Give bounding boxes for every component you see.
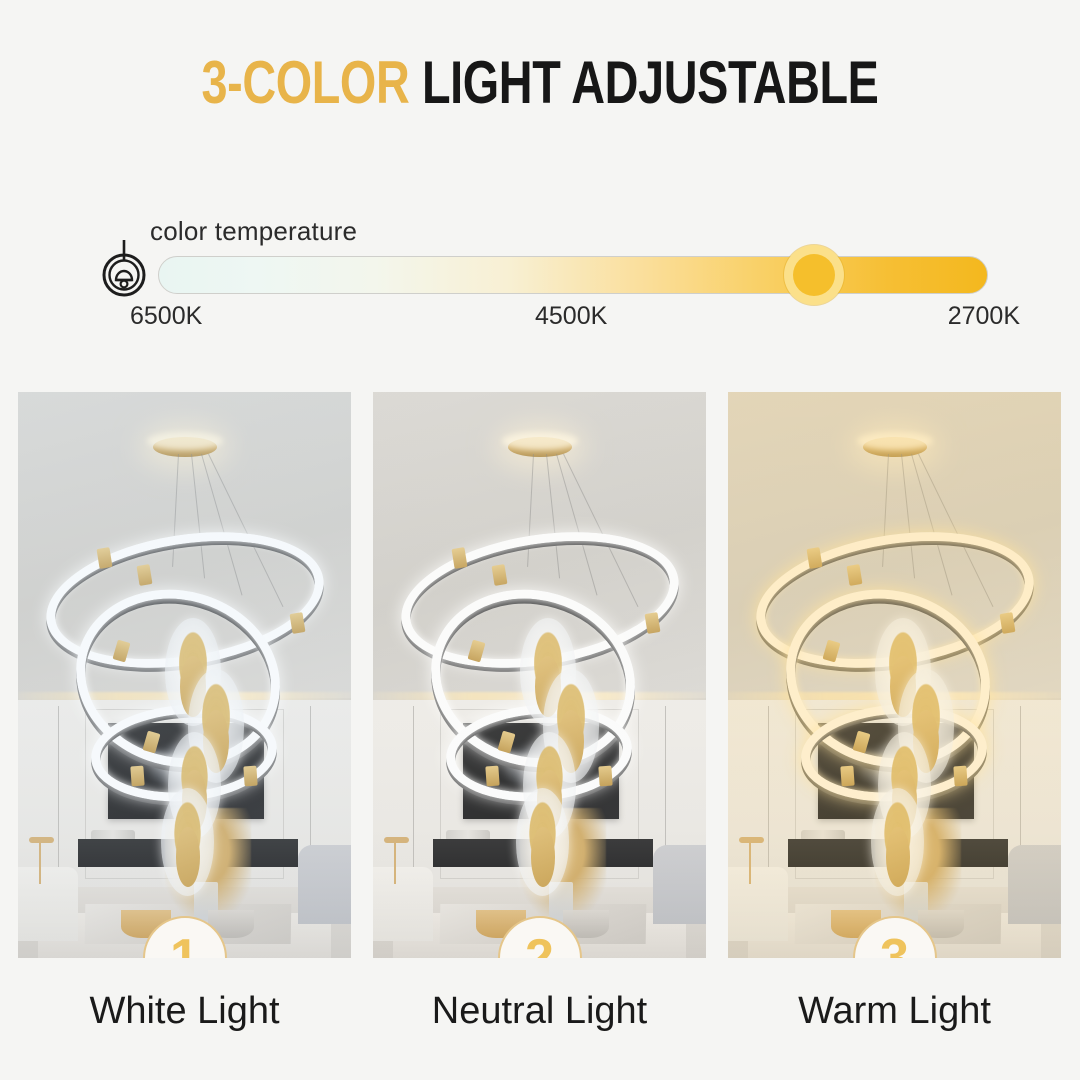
scale-labels: 6500K 4500K 2700K: [130, 302, 1020, 332]
gold-bracket: [244, 765, 258, 786]
gold-bracket: [841, 765, 855, 786]
gold-bracket: [599, 765, 613, 786]
page-title: 3-COLOR LIGHT ADJUSTABLE: [0, 48, 1080, 117]
temperature-gradient-bar[interactable]: [158, 256, 988, 294]
panel-white-light[interactable]: 1: [18, 392, 351, 958]
ceiling-canopy: [153, 437, 217, 457]
crystal-pendant: [516, 788, 569, 896]
caption-neutral-light: Neutral Light: [373, 990, 706, 1033]
panel-neutral-light[interactable]: 2: [373, 392, 706, 958]
gold-bracket: [96, 547, 112, 569]
caption-warm-light: Warm Light: [728, 990, 1061, 1033]
title-rest: LIGHT ADJUSTABLE: [409, 49, 878, 116]
gold-bracket: [846, 564, 862, 586]
scale-label-4500k: 4500K: [535, 302, 607, 331]
ceiling-canopy: [863, 437, 927, 457]
caption-white-light: White Light: [18, 990, 351, 1033]
gold-bracket: [451, 547, 467, 569]
gold-bracket: [136, 564, 152, 586]
scale-label-6500k: 6500K: [130, 302, 202, 331]
gold-bracket: [806, 547, 822, 569]
pendant-chandelier: [373, 392, 706, 958]
pendant-chandelier: [728, 392, 1061, 958]
gold-bracket: [491, 564, 507, 586]
slider-handle[interactable]: [784, 245, 844, 305]
crystal-pendant: [161, 788, 214, 896]
panel-warm-light[interactable]: 3: [728, 392, 1061, 958]
ceiling-canopy: [508, 437, 572, 457]
crystal-pendant: [871, 788, 924, 896]
color-temperature-track[interactable]: [158, 256, 988, 294]
gold-bracket: [486, 765, 500, 786]
title-highlight: 3-COLOR: [201, 49, 409, 116]
color-temperature-slider-block: color temperature 6500K 4500K 2700K: [0, 210, 1080, 330]
gold-bracket: [131, 765, 145, 786]
pendant-chandelier: [18, 392, 351, 958]
scale-label-2700k: 2700K: [948, 302, 1020, 331]
slider-caption: color temperature: [150, 216, 357, 247]
panel-captions: White Light Neutral Light Warm Light: [18, 990, 1062, 1033]
pendant-lamp-icon: [96, 238, 152, 300]
light-mode-panels: 1: [18, 392, 1062, 958]
gold-bracket: [954, 765, 968, 786]
